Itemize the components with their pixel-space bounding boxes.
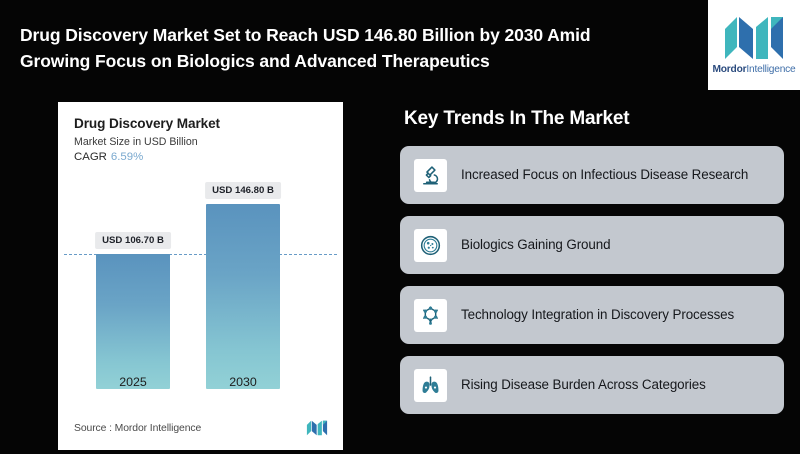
molecule-network-icon [414,299,447,332]
chart-cagr: CAGR6.59% [74,151,327,163]
chart-source-label: Source : Mordor Intelligence [74,423,201,434]
trend-label: Increased Focus on Infectious Disease Re… [461,166,748,184]
trend-card-infectious-disease[interactable]: Increased Focus on Infectious Disease Re… [400,146,784,204]
brand-wordmark-regular: Intelligence [746,64,795,75]
x-axis-label-2030: 2030 [229,375,257,389]
chart-cagr-label: CAGR [74,151,107,163]
bar-group-2025: USD 106.70 B 2025 [96,254,170,389]
trend-card-technology-integration[interactable]: Technology Integration in Discovery Proc… [400,286,784,344]
brand-wordmark: MordorIntelligence [712,64,795,75]
chart-cagr-value: 6.59% [111,151,143,163]
trend-label: Technology Integration in Discovery Proc… [461,306,734,324]
bar-value-badge-2030: USD 146.80 B [205,182,281,199]
brand-wordmark-bold: Mordor [712,64,746,75]
bar-value-badge-2025: USD 106.70 B [95,232,171,249]
trends-section-title: Key Trends In The Market [404,108,629,130]
lungs-icon [414,369,447,402]
page-title-line-1: Drug Discovery Market Set to Reach USD 1… [20,22,650,48]
trend-card-disease-burden[interactable]: Rising Disease Burden Across Categories [400,356,784,414]
page-title-line-2: Growing Focus on Biologics and Advanced … [20,48,650,74]
chart-title: Drug Discovery Market [74,116,327,131]
page-title: Drug Discovery Market Set to Reach USD 1… [20,22,650,74]
petri-dish-cell-icon [414,229,447,262]
brand-logo: MordorIntelligence [708,0,800,90]
bar-group-2030: USD 146.80 B 2030 [206,204,280,389]
bar-2030[interactable] [206,204,280,389]
trend-label: Rising Disease Burden Across Categories [461,376,706,394]
microscope-icon [414,159,447,192]
mordor-intelligence-logo-mark [723,15,785,61]
chart-panel: Drug Discovery Market Market Size in USD… [58,102,343,450]
x-axis-label-2025: 2025 [119,375,147,389]
chart-plot-area: USD 106.70 B 2025 USD 146.80 B 2030 [58,198,343,413]
trends-list: Increased Focus on Infectious Disease Re… [400,146,784,426]
trend-label: Biologics Gaining Ground [461,236,610,254]
chart-subtitle: Market Size in USD Billion [74,136,327,148]
chart-footer: Source : Mordor Intelligence [74,420,329,436]
bar-2025[interactable] [96,254,170,389]
mordor-intelligence-logo-mark-small [305,420,329,436]
trend-card-biologics[interactable]: Biologics Gaining Ground [400,216,784,274]
